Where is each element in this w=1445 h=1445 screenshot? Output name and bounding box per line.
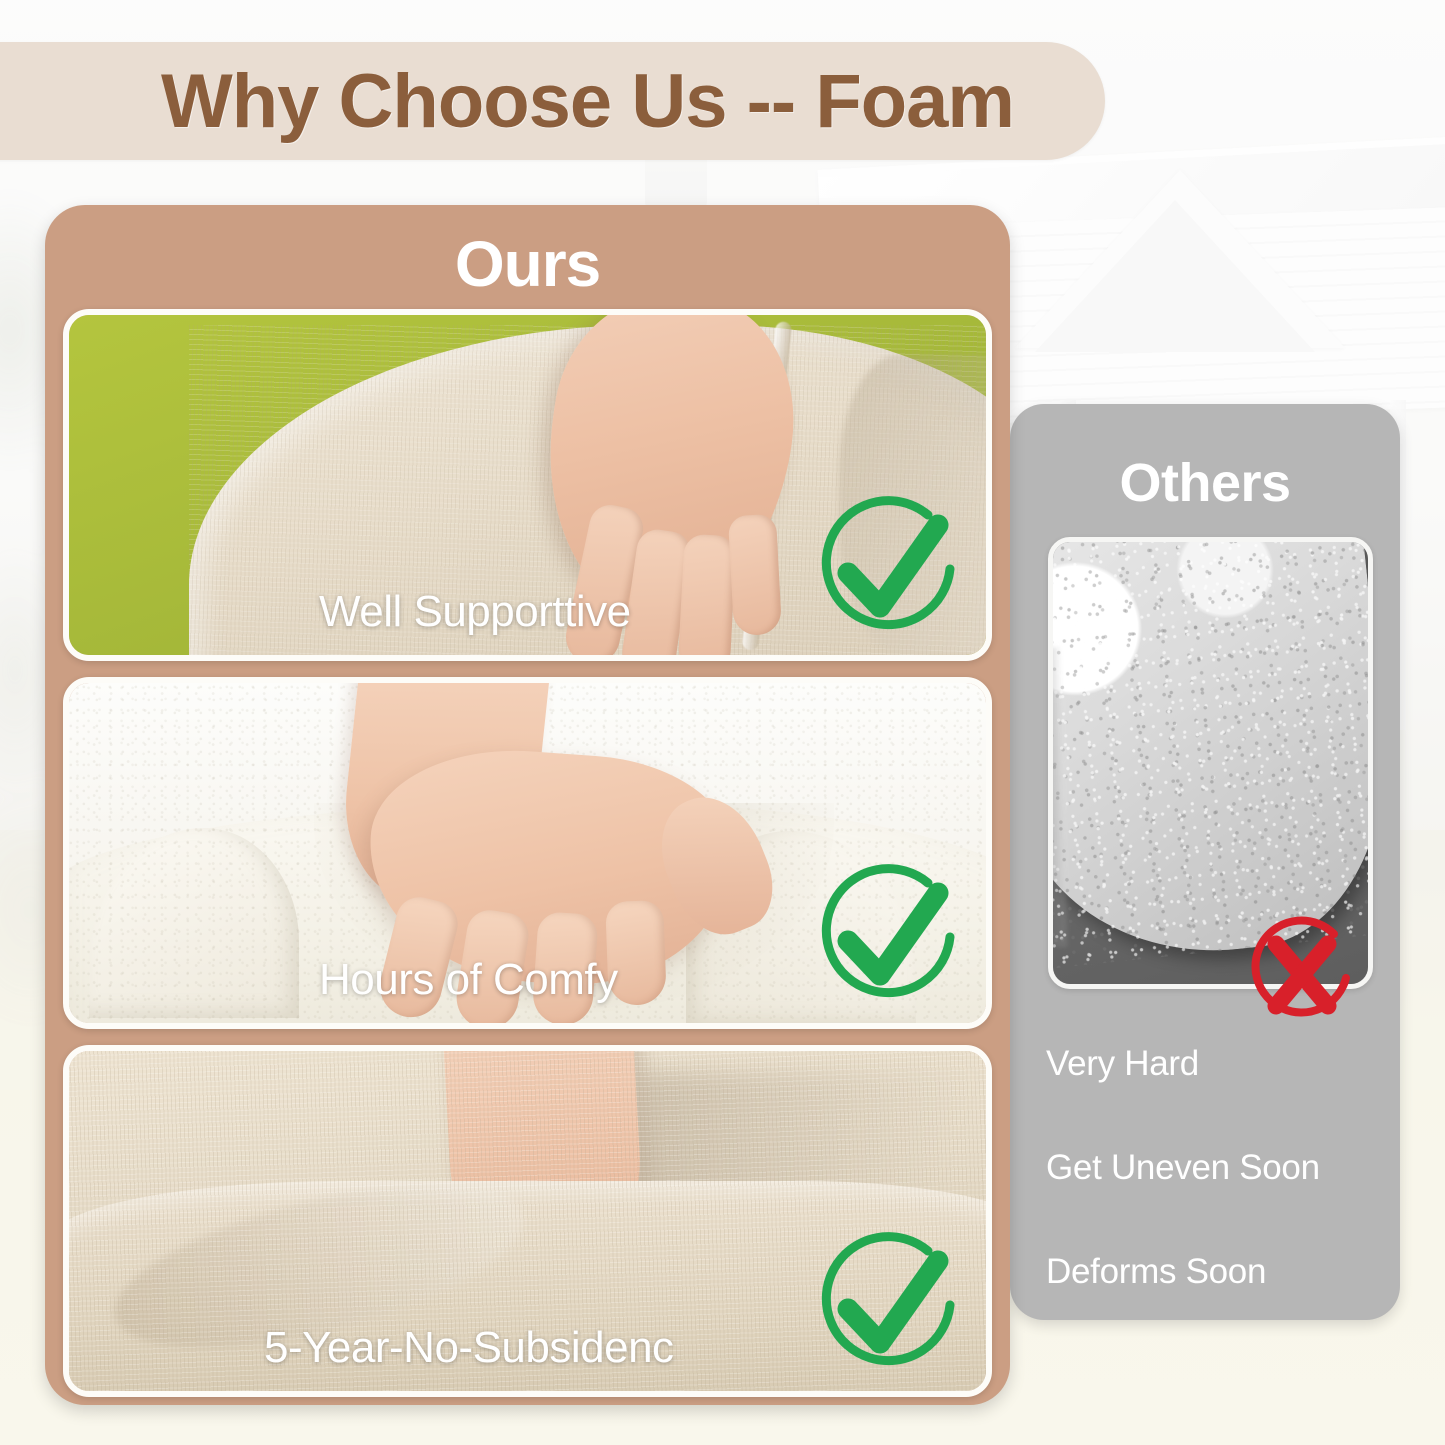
others-foam-block <box>1048 537 1373 970</box>
list-item: Well Supporttive <box>63 309 992 661</box>
others-heading: Others <box>1010 452 1400 514</box>
others-drawback-list: Very Hard Get Uneven Soon Deforms Soon <box>1010 1044 1400 1292</box>
list-item: Hours of Comfy <box>63 677 992 1029</box>
ours-heading: Ours <box>45 227 1010 301</box>
feature-label: 5-Year-No-Subsidenc <box>264 1323 674 1373</box>
feature-label: Well Supporttive <box>319 587 631 637</box>
page-title: Why Choose Us -- Foam <box>70 42 1105 160</box>
others-panel: Others Very Hard Get Uneven Soon Deforms… <box>1010 404 1400 1320</box>
feature1-finger <box>677 534 736 661</box>
feature1-finger <box>728 514 782 636</box>
others-foam-grain-texture <box>1048 537 1373 970</box>
list-item: Get Uneven Soon <box>1010 1148 1400 1188</box>
ours-panel: Ours Well Supporttive <box>45 205 1010 1405</box>
check-circle-icon <box>816 1231 964 1379</box>
feature-label: Hours of Comfy <box>319 955 618 1005</box>
x-circle-icon <box>1242 912 1362 1032</box>
ours-feature-list: Well Supporttive <box>63 309 992 1397</box>
list-item: Very Hard <box>1010 1044 1400 1084</box>
list-item: Deforms Soon <box>1010 1252 1400 1292</box>
list-item: 5-Year-No-Subsidenc <box>63 1045 992 1397</box>
check-circle-icon <box>816 495 964 643</box>
check-circle-icon <box>816 863 964 1011</box>
infographic-root: Why Choose Us -- Foam Others Very Hard G… <box>0 0 1445 1445</box>
